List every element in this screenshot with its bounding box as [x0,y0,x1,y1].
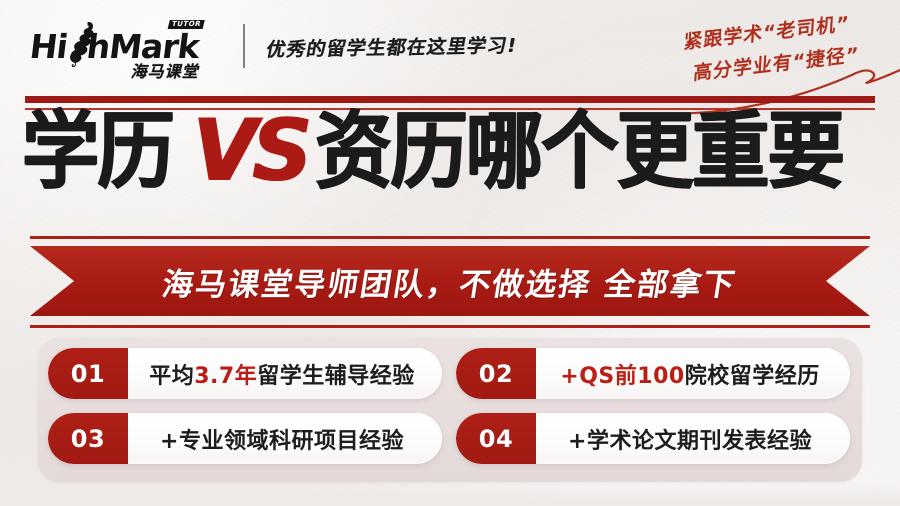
promo-slogan: 紧跟学术“老司机” 高分学业有“捷径” [682,9,855,87]
ribbon-text: 海马课堂导师团队，不做选择 全部拿下 [160,259,741,304]
feature-text-pre: 平均 [149,364,194,389]
feature-item-01[interactable]: 01 平均3.7年留学生辅导经验 [48,348,442,399]
feature-number-badge: 04 [456,413,536,464]
feature-text-highlight: +QS前100 [560,364,684,389]
logo-chinese-name: 海马课堂 [130,64,202,80]
feature-item-04[interactable]: 04 +学术论文期刊发表经验 [456,413,850,464]
brand-tagline: 优秀的留学生都在这里学习! [264,30,519,61]
feature-label: +专业领域科研项目经验 [128,423,442,455]
ribbon-rule-top [30,236,870,239]
page-title: 学历 VS 资历哪个更重要 [22,108,882,194]
banner-canvas: HihMark TUTOR 海马课堂 优秀的留学生都在这里学习! 紧跟学术“老司… [0,0,900,506]
brand-header: HihMark TUTOR 海马课堂 优秀的留学生都在这里学习! [30,24,516,68]
tutor-badge: TUTOR [167,20,204,29]
feature-label: +学术论文期刊发表经验 [536,423,850,455]
feature-label: +QS前100院校留学经历 [536,358,850,390]
feature-item-03[interactable]: 03 +专业领域科研项目经验 [48,413,442,464]
feature-number-badge: 02 [456,348,536,399]
ribbon-body: 海马课堂导师团队，不做选择 全部拿下 [30,246,870,316]
logo-wordmark: HihMark TUTOR 海马课堂 [28,30,201,63]
feature-number-badge: 03 [48,413,128,464]
feature-label: 平均3.7年留学生辅导经验 [128,358,442,390]
bottom-fade-edge [0,482,900,506]
feature-text-post: 留学生辅导经验 [257,364,415,389]
feature-number-badge: 01 [48,348,128,399]
feature-text-post: +学术论文期刊发表经验 [568,429,812,454]
features-list: 01 平均3.7年留学生辅导经验 02 +QS前100院校留学经历 03 +专业… [48,348,860,474]
feature-text-post: +专业领域科研项目经验 [160,429,404,454]
headline-right: 资历哪个更重要 [315,109,843,193]
ribbon-banner: 海马课堂导师团队，不做选择 全部拿下 [0,236,900,328]
headline-left: 学历 [22,109,173,193]
highmark-logo: HihMark TUTOR 海马课堂 [30,30,199,63]
headline-vs: VS [189,108,311,194]
header-divider [243,24,245,68]
feature-item-02[interactable]: 02 +QS前100院校留学经历 [456,348,850,399]
ribbon-rule-bottom [30,325,870,328]
feature-text-mid: 年 [235,364,258,389]
feature-text-post: 院校留学经历 [685,364,820,389]
feature-text-highlight: 3.7 [194,364,234,389]
logo-wordmark-part-b: hMark [85,27,202,66]
